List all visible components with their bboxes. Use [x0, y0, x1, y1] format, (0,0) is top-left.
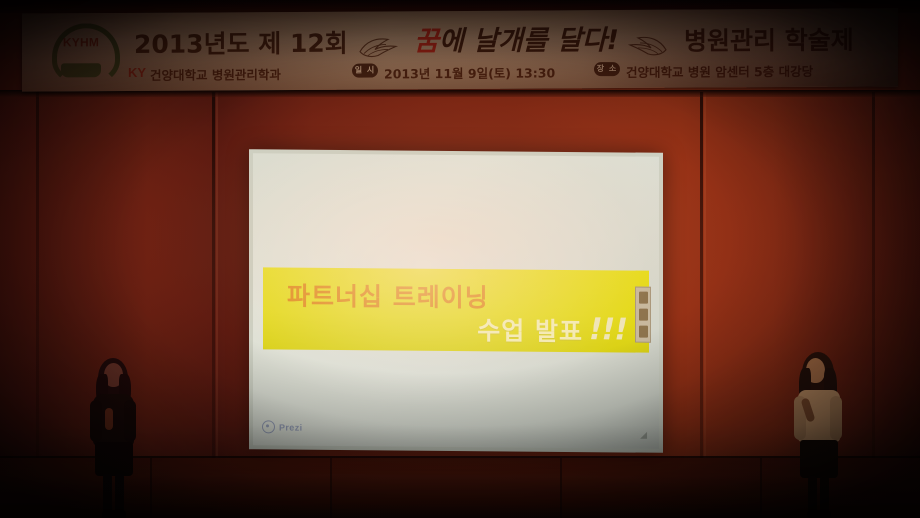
microphone — [105, 408, 113, 430]
kyhm-logo-text: KYHM — [48, 35, 114, 49]
wall-panel-seam — [212, 92, 215, 490]
wall-panel-highlight — [216, 92, 218, 490]
banner-slogan-rest: 에 날개를 달다! — [439, 25, 619, 57]
stage-photo-scene: KYHM 2013년도 제 12회 꿈에 날개를 달다! 병원관리 학술제 KY… — [0, 0, 920, 518]
presenter-skirt — [95, 442, 133, 476]
banner-place-text: 건양대학교 병원 암센터 5층 대강당 — [626, 61, 813, 81]
slide-corner-mark-icon: ◢ — [640, 430, 647, 441]
wall-panel-seam — [700, 92, 703, 490]
banner-title-left: 2013년도 제 12회 — [134, 24, 348, 61]
slide-side-tab — [635, 287, 651, 343]
floor-seam — [330, 458, 332, 518]
floor-seam — [760, 458, 762, 518]
wall-panel-seam — [36, 92, 39, 490]
floor-seam — [560, 458, 562, 518]
banner-title-right: 병원관리 학술제 — [684, 21, 854, 58]
kyhm-emblem-logo: KYHM — [48, 17, 114, 85]
presenter-right — [782, 352, 854, 518]
wall-panel-highlight — [704, 92, 706, 490]
presenter-skirt — [800, 440, 838, 478]
emblem-base-icon — [61, 63, 101, 77]
side-tab-cell-icon — [639, 325, 648, 337]
presenter-left — [78, 358, 148, 518]
presenter-arm — [124, 400, 136, 442]
ky-university-mark: KY — [128, 65, 146, 80]
wall-trim-molding — [0, 90, 920, 97]
floor-seam — [150, 458, 152, 518]
projection-screen-frame: 파트너십 트레이닝 수업 발표 !!! Prezi ◢ — [249, 149, 663, 453]
presenter-arm — [830, 396, 842, 440]
presenter-shoes — [807, 510, 831, 518]
date-label-badge: 일 시 — [352, 64, 378, 78]
slide-title-line2: 수업 발표 — [477, 311, 583, 348]
place-label-badge: 장 소 — [594, 62, 620, 76]
wing-illustration-icon — [358, 33, 404, 59]
presenter-leg — [115, 474, 124, 514]
presenter-leg — [808, 476, 817, 514]
wall-panel-seam — [872, 92, 875, 490]
prezi-circle-icon — [262, 420, 275, 433]
banner-department-text: 건양대학교 병원관리학과 — [150, 64, 281, 84]
banner-date-text: 2013년 11월 9일(토) 13:30 — [384, 62, 555, 82]
presenter-shoes — [102, 510, 126, 518]
presenter-leg — [820, 476, 829, 514]
slide-title-line1: 파트너십 트레이닝 — [287, 277, 489, 315]
side-tab-cell-icon — [639, 309, 648, 321]
projection-screen: 파트너십 트레이닝 수업 발표 !!! Prezi ◢ — [253, 153, 659, 449]
banner-slogan-dream: 꿈 — [414, 26, 439, 57]
presenter-leg — [103, 474, 112, 514]
banner-slogan: 꿈에 날개를 달다! — [414, 18, 619, 58]
event-banner: KYHM 2013년도 제 12회 꿈에 날개를 달다! 병원관리 학술제 KY… — [22, 8, 898, 91]
wing-illustration-icon — [622, 32, 668, 58]
slide-yellow-band: 파트너십 트레이닝 수업 발표 !!! — [263, 267, 649, 352]
prezi-logo: Prezi — [262, 420, 303, 433]
presenter-arm — [90, 400, 102, 442]
side-tab-cell-icon — [639, 292, 648, 304]
slide-exclamation-marks: !!! — [589, 312, 627, 347]
prezi-logo-text: Prezi — [279, 422, 303, 432]
